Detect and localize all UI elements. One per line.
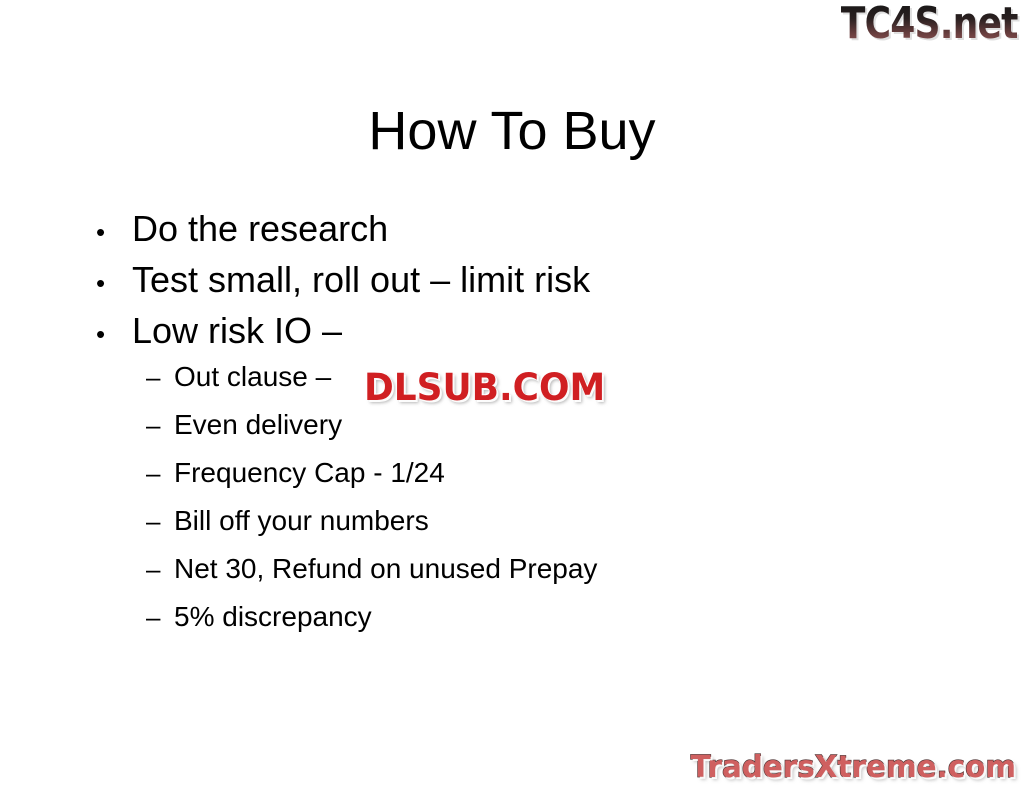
sub-bullet-text: Out clause – [174,361,331,393]
bullet-text: Do the research [132,208,388,250]
bullet-marker-dash: – [146,604,174,630]
sub-bullet-text: Even delivery [174,409,342,441]
bullet-item: • Do the research [96,208,984,259]
bullet-text: Test small, roll out – limit risk [132,259,590,301]
sub-bullet-item: – Frequency Cap - 1/24 [146,457,984,505]
bullet-marker-dash: – [146,508,174,534]
bullet-item: • Low risk IO – [96,310,984,361]
bullet-marker-dash: – [146,556,174,582]
bullet-marker-dash: – [146,364,174,390]
sub-bullet-item: – Bill off your numbers [146,505,984,553]
sub-bullet-item: – Even delivery [146,409,984,457]
sub-bullet-text: Bill off your numbers [174,505,429,537]
watermark-tradersxtreme: TradersXtreme.com [691,753,1016,783]
bullet-marker-dot: • [96,270,132,296]
sub-bullet-item: – Net 30, Refund on unused Prepay [146,553,984,601]
bullet-marker-dot: • [96,321,132,347]
bullet-marker-dash: – [146,460,174,486]
brand-logo-tc4s: TC4S.net [841,2,1018,46]
bullet-item: • Test small, roll out – limit risk [96,259,984,310]
watermark-dlsub: DLSUB.COM [364,369,605,406]
sub-bullet-item: – 5% discrepancy [146,601,984,649]
presentation-slide: TC4S.net TC4S.net How To Buy • Do the re… [0,0,1024,791]
slide-title: How To Buy [0,100,1024,162]
sub-bullet-text: 5% discrepancy [174,601,372,633]
bullet-marker-dash: – [146,412,174,438]
sub-bullet-text: Net 30, Refund on unused Prepay [174,553,597,585]
bullet-list: • Do the research • Test small, roll out… [96,208,984,649]
bullet-marker-dot: • [96,219,132,245]
bullet-text: Low risk IO – [132,310,342,352]
sub-bullet-text: Frequency Cap - 1/24 [174,457,445,489]
